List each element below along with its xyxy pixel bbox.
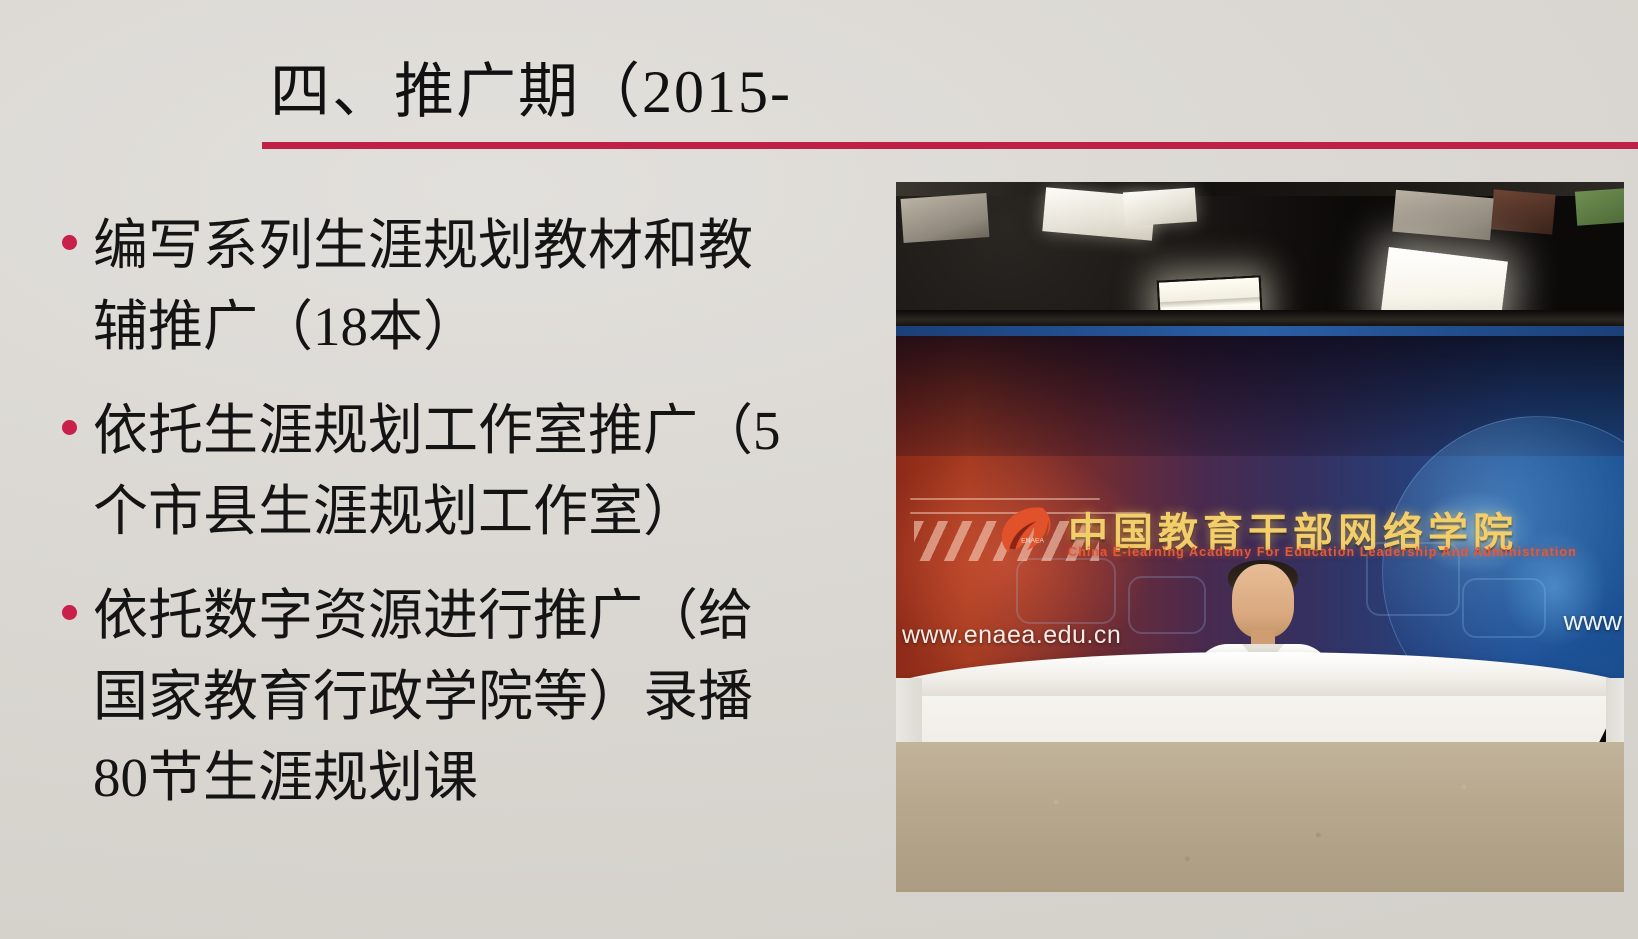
studio-floor xyxy=(896,742,1624,892)
slide-title-block: 四、推广期（2015- xyxy=(262,62,1638,149)
bullet-dot-icon xyxy=(62,235,77,250)
phoenix-logo-icon: ENAEA xyxy=(992,498,1054,560)
backdrop-brand-en: China E-learning Academy For Education L… xyxy=(1068,545,1577,559)
bullet-dot-icon xyxy=(62,420,77,435)
ceiling-panel-dim-right xyxy=(1392,190,1493,240)
title-underline-rule xyxy=(262,142,1638,149)
bullet-2-line-2: 个市县生涯规划工作室） xyxy=(93,471,781,552)
ceiling-panel-white-b xyxy=(1123,188,1197,227)
svg-text:ENAEA: ENAEA xyxy=(1021,538,1044,545)
list-item: 编写系列生涯规划教材和教 辅推广（18本） xyxy=(62,205,907,368)
bullet-text-1: 编写系列生涯规划教材和教 辅推广（18本） xyxy=(93,205,753,368)
page-title: 四、推广期（2015- xyxy=(262,62,1638,122)
bullet-dot-icon xyxy=(62,605,77,620)
photo-ceiling xyxy=(896,182,1624,326)
ceiling-panel-brown xyxy=(1490,189,1555,234)
ceiling-panel-green xyxy=(1575,188,1624,225)
studio-photo: ENAEA 中国教育干部网络学院 China E-learning Academ… xyxy=(896,182,1624,892)
bullet-1-line-2: 辅推广（18本） xyxy=(93,286,753,367)
bullet-text-2: 依托生涯规划工作室推广（5 个市县生涯规划工作室） xyxy=(93,390,781,553)
bullet-1-line-1: 编写系列生涯规划教材和教 xyxy=(93,205,753,286)
bullet-text-3: 依托数字资源进行推广（给 国家教育行政学院等）录播 80节生涯规划课 xyxy=(93,575,753,819)
bullet-3-line-1: 依托数字资源进行推广（给 xyxy=(93,575,753,656)
slide-canvas: 四、推广期（2015- 编写系列生涯规划教材和教 辅推广（18本） 依托生涯规划… xyxy=(0,0,1638,939)
list-item: 依托数字资源进行推广（给 国家教育行政学院等）录播 80节生涯规划课 xyxy=(62,575,907,819)
ceiling-panel-dim-left xyxy=(901,193,990,243)
bullet-list: 编写系列生涯规划教材和教 辅推广（18本） 依托生涯规划工作室推广（5 个市县生… xyxy=(62,205,907,905)
bullet-3-line-3: 80节生涯规划课 xyxy=(93,737,753,818)
ceiling-lower-rail xyxy=(896,310,1624,326)
bullet-2-line-1: 依托生涯规划工作室推广（5 xyxy=(93,390,781,471)
list-item: 依托生涯规划工作室推广（5 个市县生涯规划工作室） xyxy=(62,390,907,553)
bullet-3-line-2: 国家教育行政学院等）录播 xyxy=(93,656,753,737)
backdrop-top-edge xyxy=(896,326,1624,336)
floor-texture xyxy=(896,742,1624,892)
